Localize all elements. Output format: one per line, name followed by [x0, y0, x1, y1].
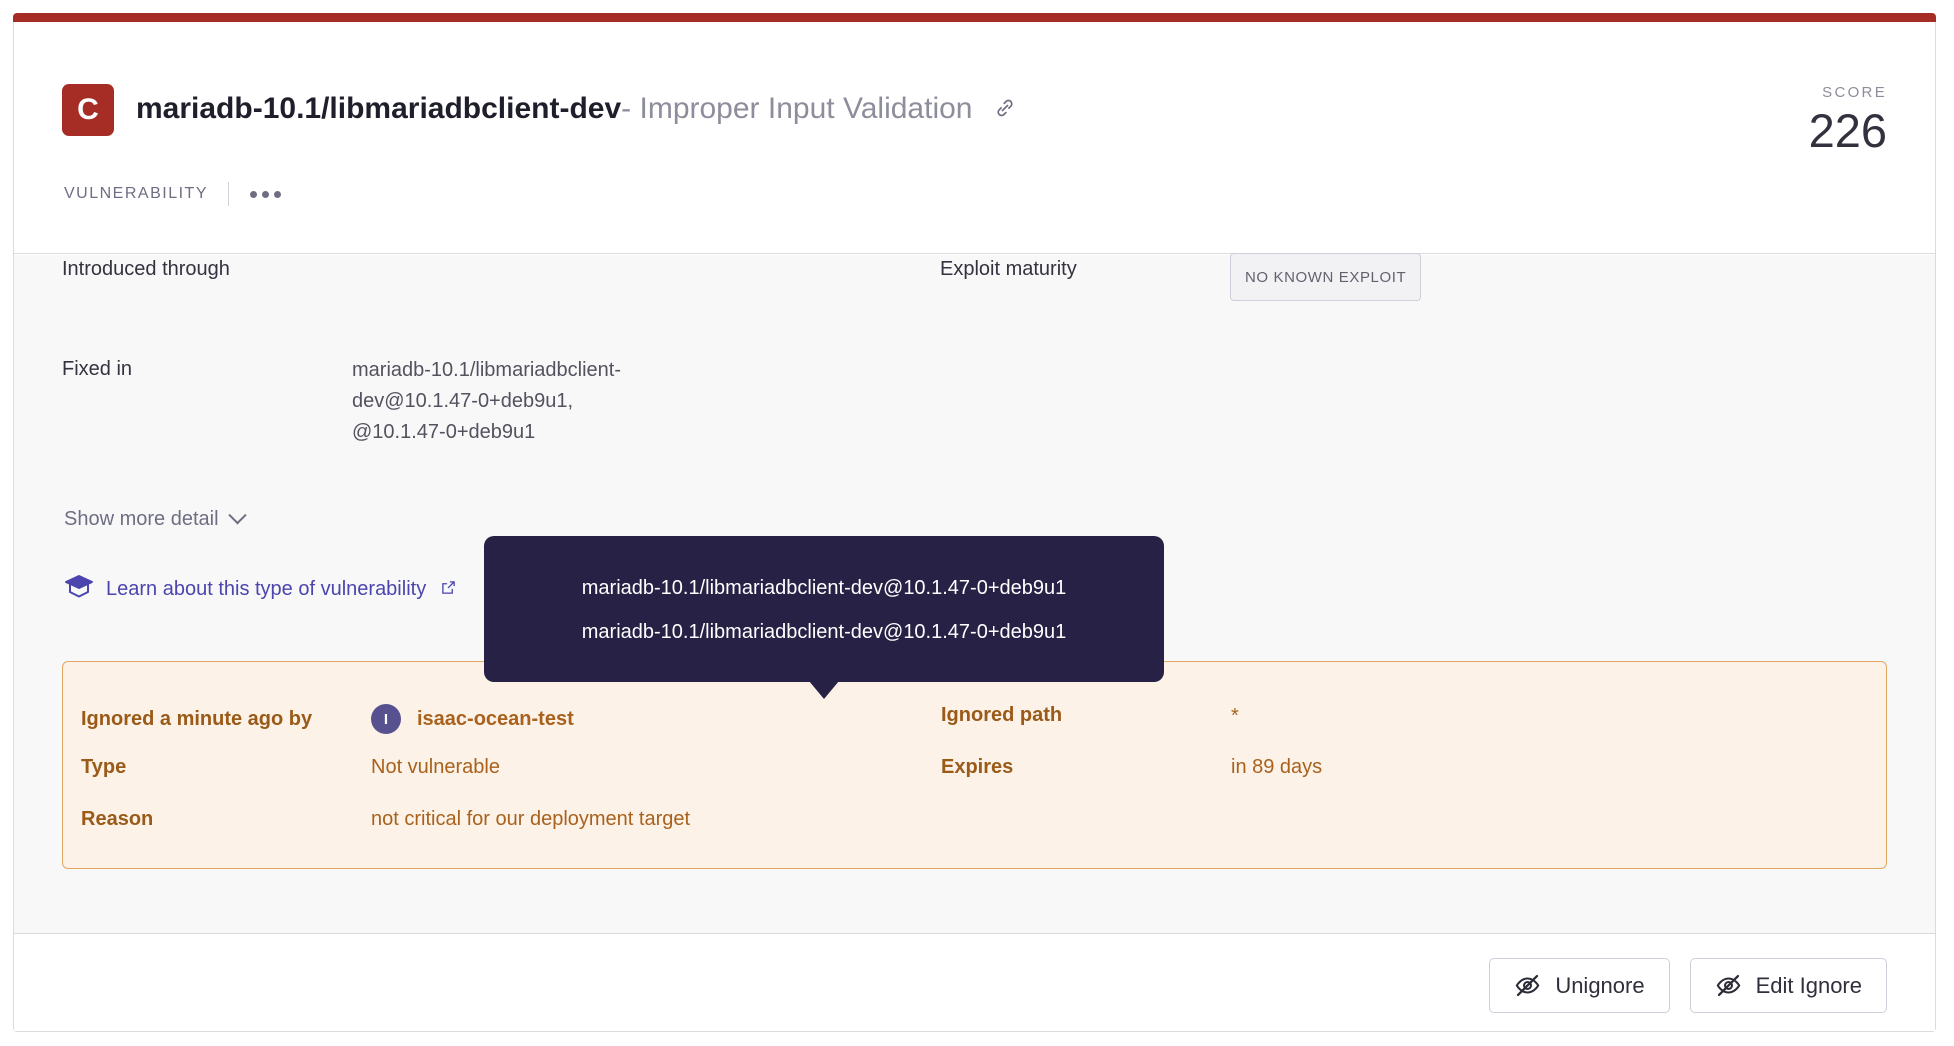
ignored-by-row: Ignored a minute ago by I isaac-ocean-te…: [81, 704, 574, 734]
tooltip-line: mariadb-10.1/libmariadbclient-dev@10.1.4…: [512, 566, 1136, 610]
graduation-cap-icon: [64, 573, 94, 605]
unignore-button[interactable]: Unignore: [1489, 958, 1669, 1013]
ignore-reason-value: not critical for our deployment target: [371, 808, 690, 831]
title-package: mariadb-10.1/libmariadbclient-dev: [136, 92, 621, 125]
show-more-detail-button[interactable]: Show more detail: [64, 508, 244, 531]
show-more-detail-label: Show more detail: [64, 508, 219, 531]
fact-introduced-through: Introduced through: [62, 255, 352, 283]
ignore-reason-row: Reason not critical for our deployment t…: [81, 808, 690, 831]
fact-exploit-maturity: Exploit maturity NO KNOWN EXPLOIT: [940, 255, 1421, 301]
introduced-through-label: Introduced through: [62, 255, 352, 283]
ignore-type-value: Not vulnerable: [371, 756, 500, 779]
exploit-maturity-label: Exploit maturity: [940, 255, 1230, 283]
ignored-path-label: Ignored path: [941, 704, 1231, 727]
exploit-maturity-value: NO KNOWN EXPLOIT: [1230, 255, 1421, 301]
card-footer: Unignore Edit Ignore: [14, 934, 1935, 1031]
learn-about-vulnerability-link[interactable]: Learn about this type of vulnerability: [64, 573, 456, 605]
ignore-reason-label: Reason: [81, 808, 371, 831]
eye-off-icon: [1514, 972, 1541, 999]
tooltip-arrow: [809, 681, 839, 699]
learn-about-vulnerability-label: Learn about this type of vulnerability: [106, 578, 426, 601]
score-value: 226: [1809, 105, 1887, 157]
title-description: Improper Input Validation: [640, 92, 973, 125]
severity-top-bar: [13, 13, 1936, 22]
ignore-type-row: Type Not vulnerable: [81, 756, 500, 779]
ignore-expires-value: in 89 days: [1231, 756, 1322, 779]
introduced-through-tooltip: mariadb-10.1/libmariadbclient-dev@10.1.4…: [484, 536, 1164, 682]
severity-badge: C: [62, 84, 114, 136]
more-options-icon[interactable]: [248, 185, 283, 204]
ignored-by-label: Ignored a minute ago by: [81, 708, 371, 731]
ignore-expires-label: Expires: [941, 756, 1231, 779]
ignored-panel: Ignored a minute ago by I isaac-ocean-te…: [62, 661, 1887, 869]
edit-ignore-button[interactable]: Edit Ignore: [1690, 958, 1887, 1013]
eye-off-icon: [1715, 972, 1742, 999]
tooltip-line: mariadb-10.1/libmariadbclient-dev@10.1.4…: [512, 610, 1136, 654]
card-header: C mariadb-10.1/libmariadbclient-dev- Imp…: [14, 22, 1935, 254]
title-row: C mariadb-10.1/libmariadbclient-dev- Imp…: [62, 84, 1017, 136]
external-link-icon: [441, 578, 456, 601]
entity-type-label: VULNERABILITY: [64, 185, 208, 203]
ignored-path-value: *: [1231, 711, 1239, 721]
fixed-in-label: Fixed in: [62, 355, 352, 383]
exploit-maturity-badge: NO KNOWN EXPLOIT: [1230, 253, 1421, 301]
fixed-in-value: mariadb-10.1/libmariadbclient-dev@10.1.4…: [352, 355, 662, 448]
ignored-by-username: isaac-ocean-test: [417, 708, 574, 731]
card-body: Introduced through Fixed in mariadb-10.1…: [14, 255, 1935, 934]
title-separator: -: [621, 92, 631, 125]
ignore-type-label: Type: [81, 756, 371, 779]
vulnerability-card: C mariadb-10.1/libmariadbclient-dev- Imp…: [13, 14, 1936, 1032]
page-title: mariadb-10.1/libmariadbclient-dev- Impro…: [136, 91, 1017, 129]
score-box: SCORE 226: [1809, 84, 1887, 157]
chevron-down-icon: [228, 506, 246, 524]
score-label: SCORE: [1809, 84, 1887, 101]
facts-grid: Introduced through Fixed in mariadb-10.1…: [62, 255, 1887, 465]
meta-row: VULNERABILITY: [64, 182, 283, 206]
ignore-expires-row: Expires in 89 days: [941, 756, 1322, 779]
edit-ignore-label: Edit Ignore: [1756, 973, 1862, 999]
ignored-by-value: I isaac-ocean-test: [371, 704, 574, 734]
avatar: I: [371, 704, 401, 734]
fact-fixed-in: Fixed in mariadb-10.1/libmariadbclient-d…: [62, 355, 662, 448]
ignored-path-row: Ignored path *: [941, 704, 1239, 727]
link-icon[interactable]: [993, 93, 1017, 129]
meta-divider: [228, 182, 229, 206]
unignore-label: Unignore: [1555, 973, 1644, 999]
footer-actions: Unignore Edit Ignore: [1489, 958, 1887, 1013]
